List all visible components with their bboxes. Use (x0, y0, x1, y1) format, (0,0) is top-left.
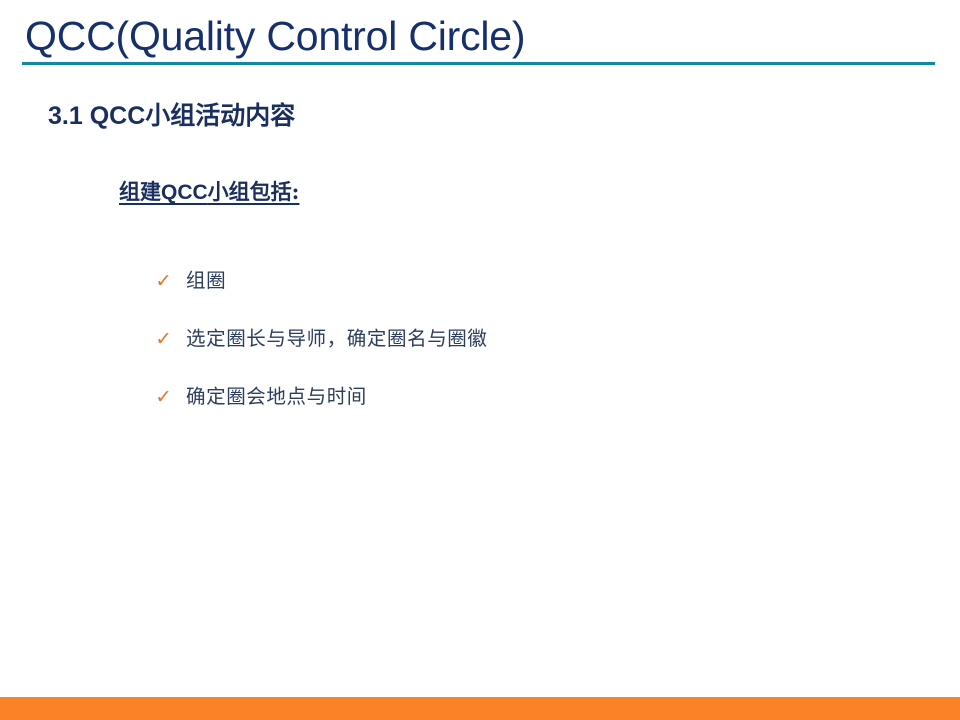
list-item: ✓ 确定圈会地点与时间 (156, 384, 876, 442)
sub-heading-cjk-lead: 组建 (119, 179, 161, 204)
page-title: QCC(Quality Control Circle) (25, 12, 525, 60)
section-heading-latin: QCC (90, 102, 146, 130)
list-item: ✓ 组圈 (156, 268, 876, 326)
list-item-label: 选定圈长与导师，确定圈名与圈徽 (186, 326, 876, 352)
section-heading-cjk: 小组活动内容 (145, 101, 295, 130)
section-heading-number: 3.1 (48, 102, 90, 130)
list-item: ✓ 选定圈长与导师，确定圈名与圈徽 (156, 326, 876, 384)
list-item-label: 组圈 (186, 268, 876, 294)
list-item-label: 确定圈会地点与时间 (186, 384, 876, 410)
checkmark-icon: ✓ (155, 384, 187, 410)
checkmark-icon: ✓ (155, 326, 187, 352)
slide-canvas: QCC(Quality Control Circle) 3.1 QCC小组活动内… (0, 0, 960, 720)
sub-heading: 组建QCC小组包括: (119, 177, 299, 207)
title-divider-rule (22, 62, 935, 65)
sub-heading-cjk-tail: 小组包括: (208, 179, 300, 204)
bullet-list: ✓ 组圈 ✓ 选定圈长与导师，确定圈名与圈徽 ✓ 确定圈会地点与时间 (156, 268, 876, 442)
section-heading: 3.1 QCC小组活动内容 (48, 99, 295, 133)
checkmark-icon: ✓ (155, 268, 187, 294)
sub-heading-latin: QCC (161, 181, 208, 204)
footer-accent-bar (0, 697, 960, 720)
